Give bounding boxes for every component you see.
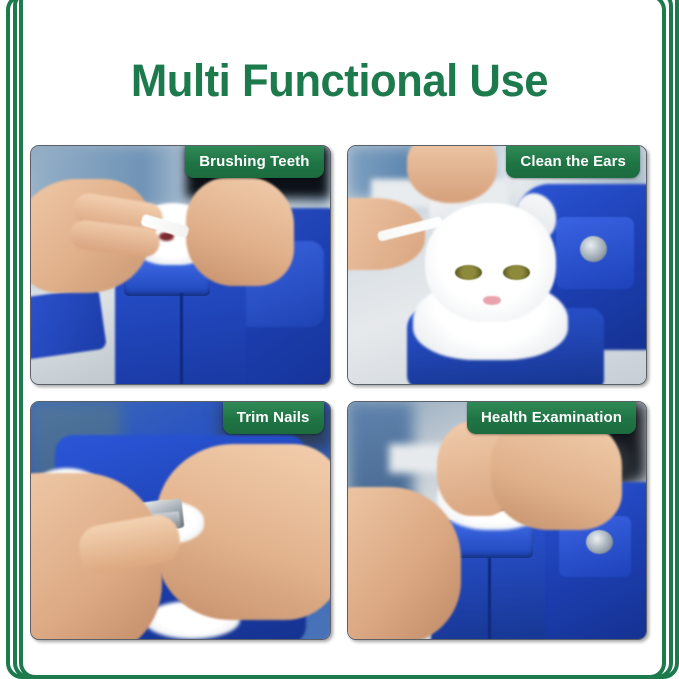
page-title: Multi Functional Use [10,55,669,107]
feature-panel-trim-nails[interactable]: Trim Nails [30,401,331,641]
feature-panel-clean-the-ears[interactable]: Clean the Ears [347,145,648,385]
photo-clean-the-ears [348,146,647,384]
panel-label-health-examination: Health Examination [467,402,636,434]
panel-label-brushing-teeth: Brushing Teeth [185,146,323,178]
feature-panel-brushing-teeth[interactable]: Brushing Teeth [30,145,331,385]
panel-label-trim-nails: Trim Nails [223,402,324,434]
photo-health-examination [348,402,647,640]
photo-brushing-teeth [31,146,330,384]
photo-trim-nails [31,402,330,640]
panel-label-clean-the-ears: Clean the Ears [506,146,640,178]
poster-page: Multi Functional Use [0,0,679,679]
feature-panel-health-examination[interactable]: Health Examination [347,401,648,641]
feature-grid: Brushing Teeth [30,145,647,640]
